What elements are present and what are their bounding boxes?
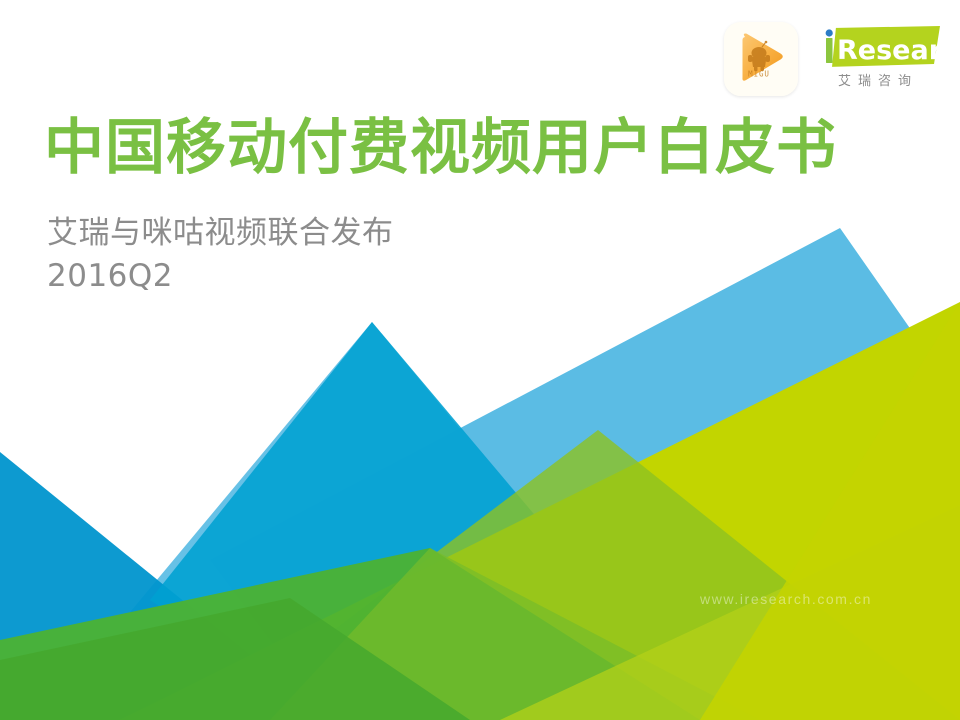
iresearch-wordmark-graphic: Research — [812, 24, 942, 72]
iresearch-i-stem — [826, 38, 833, 63]
page-title: 中国移动付费视频用户白皮书 — [44, 112, 837, 184]
subtitle-block: 艾瑞与咪咕视频联合发布 2016Q2 — [47, 212, 394, 298]
iresearch-logo[interactable]: Research 艾瑞咨询 — [812, 22, 942, 100]
iresearch-chinese-text: 艾瑞咨询 — [814, 70, 942, 89]
subtitle-line-period: 2016Q2 — [47, 255, 394, 298]
subtitle-line-publisher: 艾瑞与咪咕视频联合发布 — [47, 212, 394, 255]
migu-wordmark: MIGU — [748, 70, 770, 79]
migu-video-logo[interactable]: MIGU — [724, 22, 798, 96]
logo-row: MIGU Research 艾瑞咨询 — [724, 22, 942, 118]
migu-icon-graphic: MIGU — [724, 22, 798, 96]
iresearch-i-dot — [826, 29, 833, 36]
title-slide: MIGU Research 艾瑞咨询 中国移动付费视频用户白皮书 艾瑞与咪咕视频… — [0, 0, 960, 720]
watermark-url: www.iresearch.com.cn — [700, 591, 872, 607]
iresearch-latin-text: Research — [837, 35, 942, 66]
